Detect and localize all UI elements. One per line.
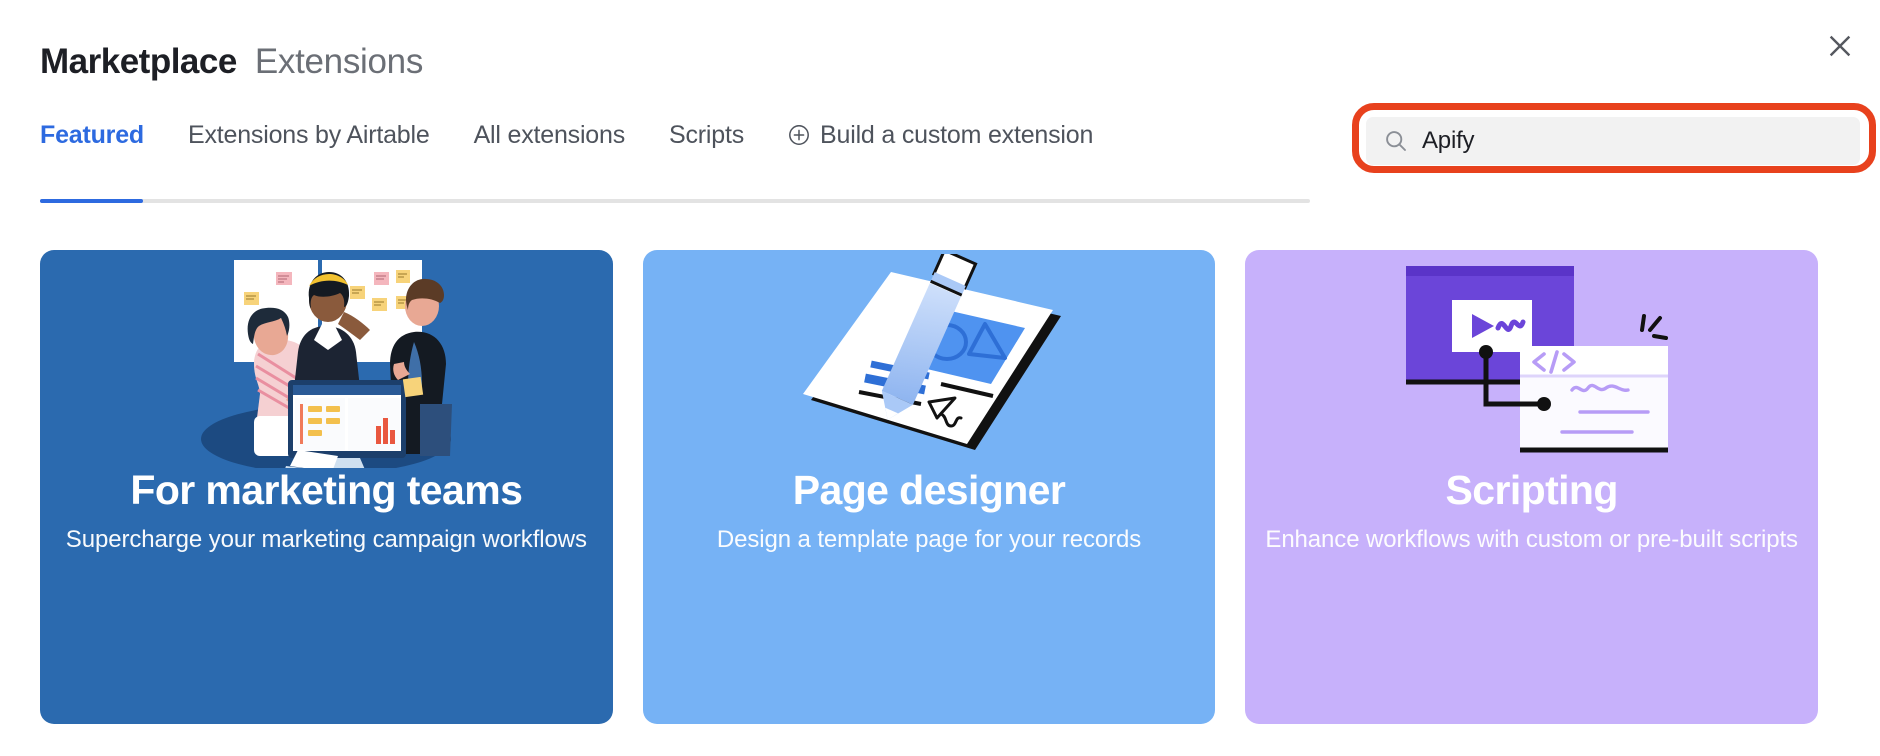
tab-all-extensions[interactable]: All extensions <box>474 123 625 148</box>
plus-circle-icon <box>788 124 810 146</box>
tab-underline-track <box>40 199 1310 203</box>
tab-build-a-custom-extension[interactable]: Build a custom extension <box>788 123 1093 148</box>
tab-bar: Featured Extensions by Airtable All exte… <box>40 106 1310 202</box>
tab-scripts[interactable]: Scripts <box>669 123 744 148</box>
tab-extensions-by-airtable-label: Extensions by Airtable <box>188 123 430 148</box>
card-subtitle: Design a template page for your records <box>663 525 1196 554</box>
marketing-team-illustration <box>40 250 613 468</box>
page-title-secondary: Extensions <box>255 42 423 82</box>
tab-scripts-label: Scripts <box>669 123 744 148</box>
card-subtitle: Supercharge your marketing campaign work… <box>60 525 593 554</box>
tab-featured-label: Featured <box>40 123 144 148</box>
search-input[interactable]: Apify <box>1366 117 1860 165</box>
search-icon <box>1384 129 1408 153</box>
card-title: For marketing teams <box>60 468 593 513</box>
card-subtitle: Enhance workflows with custom or pre-bui… <box>1265 525 1798 554</box>
card-title: Scripting <box>1265 468 1798 513</box>
tab-build-a-custom-extension-label: Build a custom extension <box>820 123 1093 148</box>
tab-all-extensions-label: All extensions <box>474 123 625 148</box>
tab-active-indicator <box>40 199 143 203</box>
featured-card-grid: For marketing teams Supercharge your mar… <box>40 250 1818 724</box>
tab-featured[interactable]: Featured <box>40 123 144 148</box>
code-windows-illustration <box>1245 250 1818 468</box>
pencil-document-illustration <box>643 250 1216 468</box>
tab-extensions-by-airtable[interactable]: Extensions by Airtable <box>188 123 430 148</box>
close-dialog-button[interactable] <box>1818 24 1862 68</box>
page-title-primary: Marketplace <box>40 42 237 82</box>
close-icon <box>1827 33 1853 59</box>
page-title: Marketplace Extensions <box>40 42 423 82</box>
card-title: Page designer <box>663 468 1196 513</box>
card-scripting[interactable]: Scripting Enhance workflows with custom … <box>1245 250 1818 724</box>
card-for-marketing-teams[interactable]: For marketing teams Supercharge your mar… <box>40 250 613 724</box>
search-input-value: Apify <box>1422 129 1474 153</box>
marketplace-extensions-dialog: Marketplace Extensions Featured Extensio… <box>0 0 1880 756</box>
card-page-designer[interactable]: Page designer Design a template page for… <box>643 250 1216 724</box>
